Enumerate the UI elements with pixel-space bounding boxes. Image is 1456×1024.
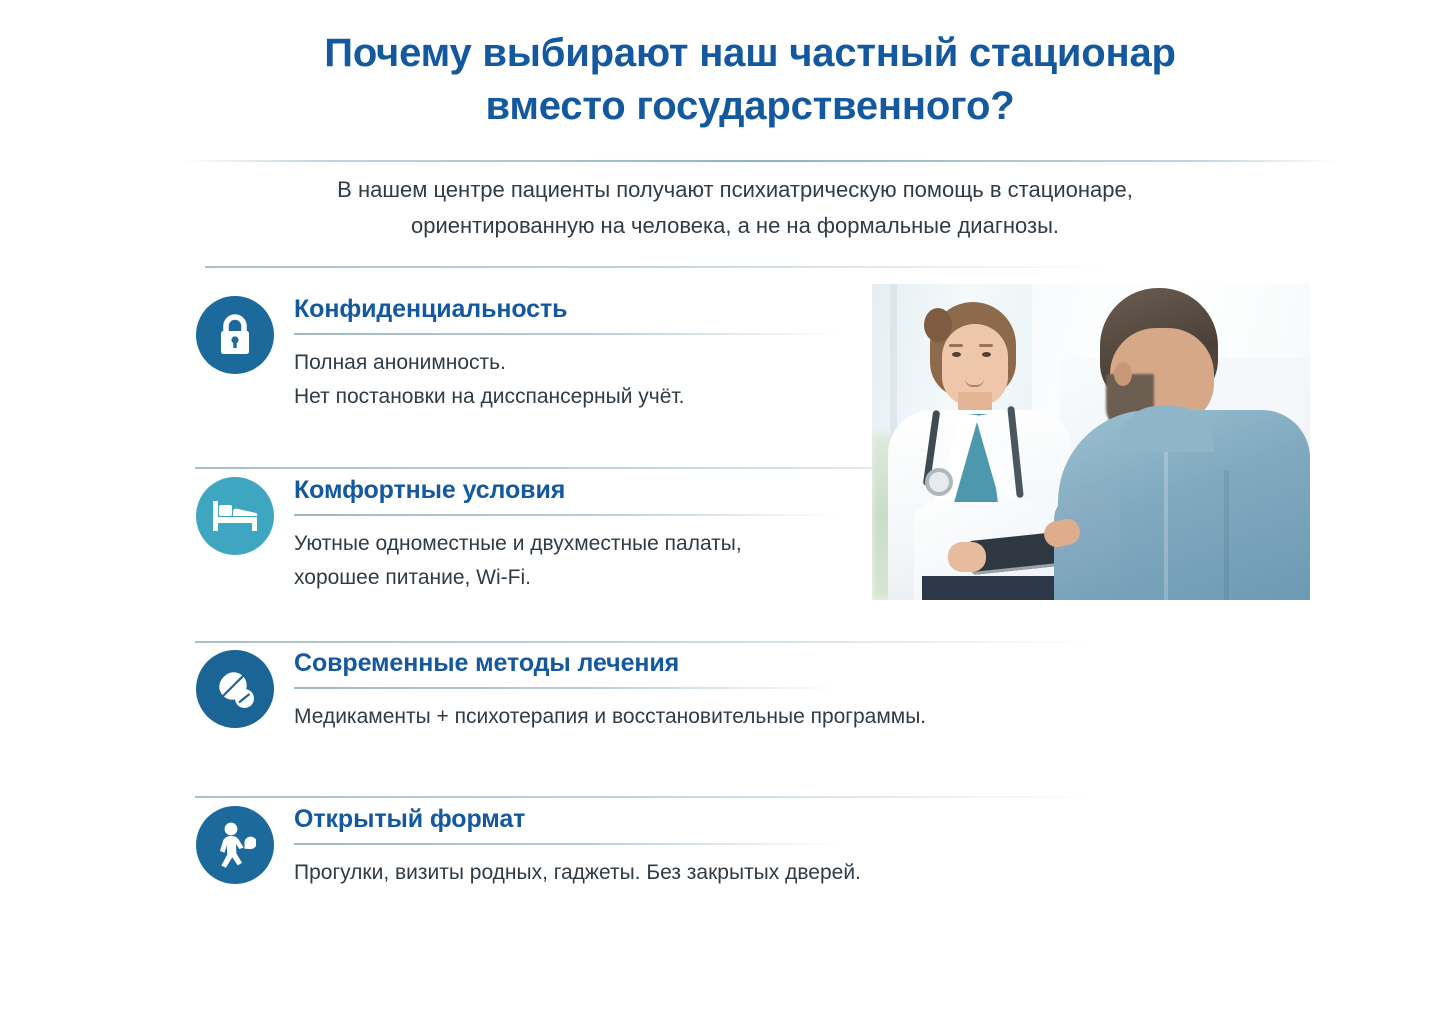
photo-patient-shirt-fold (1224, 470, 1229, 600)
feature-open-format: Открытый формат Прогулки, визиты родных,… (196, 806, 856, 890)
photo-patient-arm (1054, 492, 1120, 600)
feature-description: Полная анонимность. Нет постановки на ди… (294, 346, 856, 414)
photo-doctor-hand (948, 542, 986, 572)
pills-icon-badge (196, 650, 274, 728)
feature-comfort: Комфортные условия Уютные одноместные и … (196, 477, 856, 595)
feature-heading-underline (294, 333, 839, 335)
page-title-line-2: вместо государственного? (180, 81, 1320, 132)
photo-doctor-eye-right (982, 352, 991, 357)
feature-description-line: Полная анонимность. (294, 346, 856, 380)
page-title-line-1: Почему выбирают наш частный стационар (180, 28, 1320, 79)
walking-person-icon-badge (196, 806, 274, 884)
feature-heading: Открытый формат (294, 806, 856, 834)
feature-description-line: Уютные одноместные и двухместные палаты, (294, 527, 856, 561)
pills-icon (213, 667, 257, 711)
doctor-patient-photo (872, 284, 1310, 600)
feature-description-line: Прогулки, визиты родных, гаджеты. Без за… (294, 856, 856, 890)
walking-person-icon (214, 822, 256, 868)
lock-icon (215, 313, 255, 357)
feature-description-line: Нет постановки на дисспансерный учёт. (294, 380, 856, 414)
page-title: Почему выбирают наш частный стационар вм… (180, 28, 1320, 132)
feature-confidentiality: Конфиденциальность Полная анонимность. Н… (196, 296, 856, 414)
feature-heading: Современные методы лечения (294, 650, 856, 678)
photo-scene (872, 284, 1310, 600)
divider-under-title (180, 160, 1340, 162)
feature-description: Медикаменты + психотерапия и восстановит… (294, 700, 856, 734)
feature-description-line: хорошее питание, Wi-Fi. (294, 561, 856, 595)
intro-paragraph: В нашем центре пациенты получают психиат… (195, 172, 1275, 243)
divider-under-intro (205, 266, 1105, 268)
feature-description: Прогулки, визиты родных, гаджеты. Без за… (294, 856, 856, 890)
photo-doctor-eyebrow-right (979, 344, 993, 347)
lock-icon-badge (196, 296, 274, 374)
feature-heading-underline (294, 843, 839, 845)
divider-after-comfort (195, 641, 1095, 643)
photo-stethoscope-bell (925, 468, 953, 496)
intro-line-1: В нашем центре пациенты получают психиат… (195, 172, 1275, 208)
bed-icon (212, 499, 258, 533)
photo-doctor-eyebrow-left (949, 344, 963, 347)
photo-doctor-eye-left (952, 352, 961, 357)
bed-icon-badge (196, 477, 274, 555)
feature-modern-treatment: Современные методы лечения Медикаменты +… (196, 650, 856, 734)
divider-after-modern-treatment (195, 796, 1095, 798)
feature-description-line: Медикаменты + психотерапия и восстановит… (294, 700, 856, 734)
photo-patient-ear (1114, 362, 1132, 386)
photo-patient-shirt-fold (1164, 452, 1168, 600)
feature-description: Уютные одноместные и двухместные палаты,… (294, 527, 856, 595)
feature-heading: Конфиденциальность (294, 296, 856, 324)
intro-line-2: ориентированную на человека, а не на фор… (195, 208, 1275, 244)
feature-heading-underline (294, 514, 839, 516)
feature-heading-underline (294, 687, 839, 689)
feature-heading: Комфортные условия (294, 477, 856, 505)
